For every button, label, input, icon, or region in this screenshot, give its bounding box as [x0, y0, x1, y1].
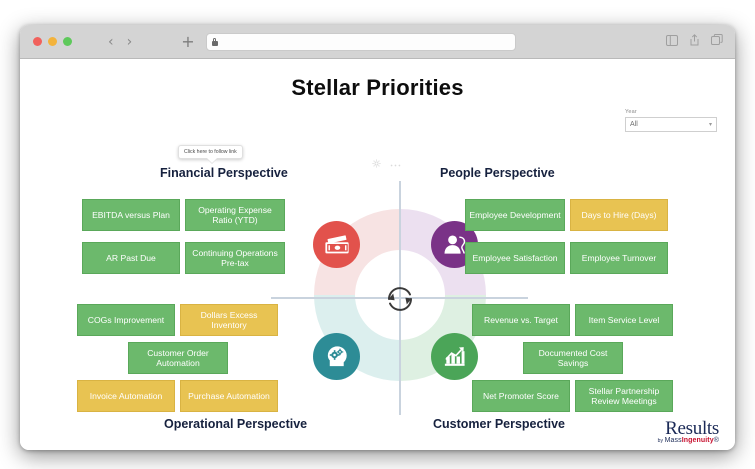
forward-button[interactable]: ›: [127, 35, 133, 49]
logo-tagline: by MassIngenuity®: [658, 437, 719, 444]
money-icon[interactable]: [313, 221, 360, 268]
maximize-window-button[interactable]: [63, 37, 72, 46]
tile-continuing-operations-pre-tax[interactable]: Continuing Operations Pre-tax: [185, 242, 285, 274]
tile-purchase-automation[interactable]: Purchase Automation: [180, 380, 278, 412]
tile-operating-expense-ratio[interactable]: Operating Expense Ratio (YTD): [185, 199, 285, 231]
canvas-toolbar[interactable]: [372, 155, 401, 173]
growth-chart-icon[interactable]: [431, 333, 478, 380]
tile-documented-cost-savings[interactable]: Documented Cost Savings: [523, 342, 623, 374]
heading-people-perspective[interactable]: People Perspective: [440, 166, 555, 180]
page-title: Stellar Priorities: [20, 75, 735, 101]
heading-operational-perspective[interactable]: Operational Perspective: [164, 417, 307, 431]
close-window-button[interactable]: [33, 37, 42, 46]
tile-dollars-excess-inventory[interactable]: Dollars Excess Inventory: [180, 304, 278, 336]
tile-invoice-automation[interactable]: Invoice Automation: [77, 380, 175, 412]
toolbar-right-icons[interactable]: [666, 33, 723, 51]
gear-icon[interactable]: [372, 155, 381, 173]
tile-net-promoter-score[interactable]: Net Promoter Score: [472, 380, 570, 412]
logo-ingenuity-text: Ingenuity: [682, 437, 714, 444]
logo-by-text: by: [658, 438, 665, 444]
year-filter-label: Year: [625, 109, 717, 115]
tile-employee-development[interactable]: Employee Development: [465, 199, 565, 231]
tabs-icon[interactable]: [711, 33, 723, 51]
link-tooltip: Click here to follow link: [178, 145, 243, 159]
new-tab-button[interactable]: +: [181, 34, 194, 50]
share-icon[interactable]: [689, 33, 700, 51]
navigation-buttons[interactable]: ‹ ›: [108, 35, 132, 49]
back-button[interactable]: ‹: [108, 35, 114, 49]
tile-days-to-hire[interactable]: Days to Hire (Days): [570, 199, 668, 231]
lock-icon: [212, 38, 218, 46]
dashboard-canvas: Stellar Priorities Year All ▾ Click here…: [20, 59, 735, 450]
tile-revenue-vs-target[interactable]: Revenue vs. Target: [472, 304, 570, 336]
refresh-cycle-icon: [380, 279, 420, 319]
tile-stellar-partnership-review[interactable]: Stellar Partnership Review Meetings: [575, 380, 673, 412]
screenshot-root: ‹ › +: [0, 0, 755, 469]
tile-ar-past-due[interactable]: AR Past Due: [82, 242, 180, 274]
browser-toolbar: ‹ › +: [20, 25, 735, 59]
head-gears-icon[interactable]: [313, 333, 360, 380]
tile-employee-turnover[interactable]: Employee Turnover: [570, 242, 668, 274]
chevron-down-icon: ▾: [709, 121, 712, 128]
results-logo: Results by MassIngenuity®: [658, 418, 719, 444]
tile-customer-order-automation[interactable]: Customer Order Automation: [128, 342, 228, 374]
year-filter-value: All: [630, 121, 638, 128]
logo-mass-text: Mass: [665, 437, 682, 444]
address-bar[interactable]: [206, 33, 516, 51]
tile-employee-satisfaction[interactable]: Employee Satisfaction: [465, 242, 565, 274]
tile-cogs-improvement[interactable]: COGs Improvement: [77, 304, 175, 336]
sidebar-icon[interactable]: [666, 33, 678, 51]
logo-tm-mark: ®: [714, 437, 719, 444]
tile-item-service-level[interactable]: Item Service Level: [575, 304, 673, 336]
tile-ebitda-versus-plan[interactable]: EBITDA versus Plan: [82, 199, 180, 231]
heading-customer-perspective[interactable]: Customer Perspective: [433, 417, 565, 431]
heading-financial-perspective[interactable]: Financial Perspective: [160, 166, 288, 180]
year-filter-select[interactable]: All ▾: [625, 117, 717, 132]
browser-window: ‹ › +: [20, 25, 735, 450]
more-icon[interactable]: [390, 155, 401, 173]
window-controls[interactable]: [33, 37, 72, 46]
year-filter[interactable]: Year All ▾: [625, 109, 717, 132]
minimize-window-button[interactable]: [48, 37, 57, 46]
